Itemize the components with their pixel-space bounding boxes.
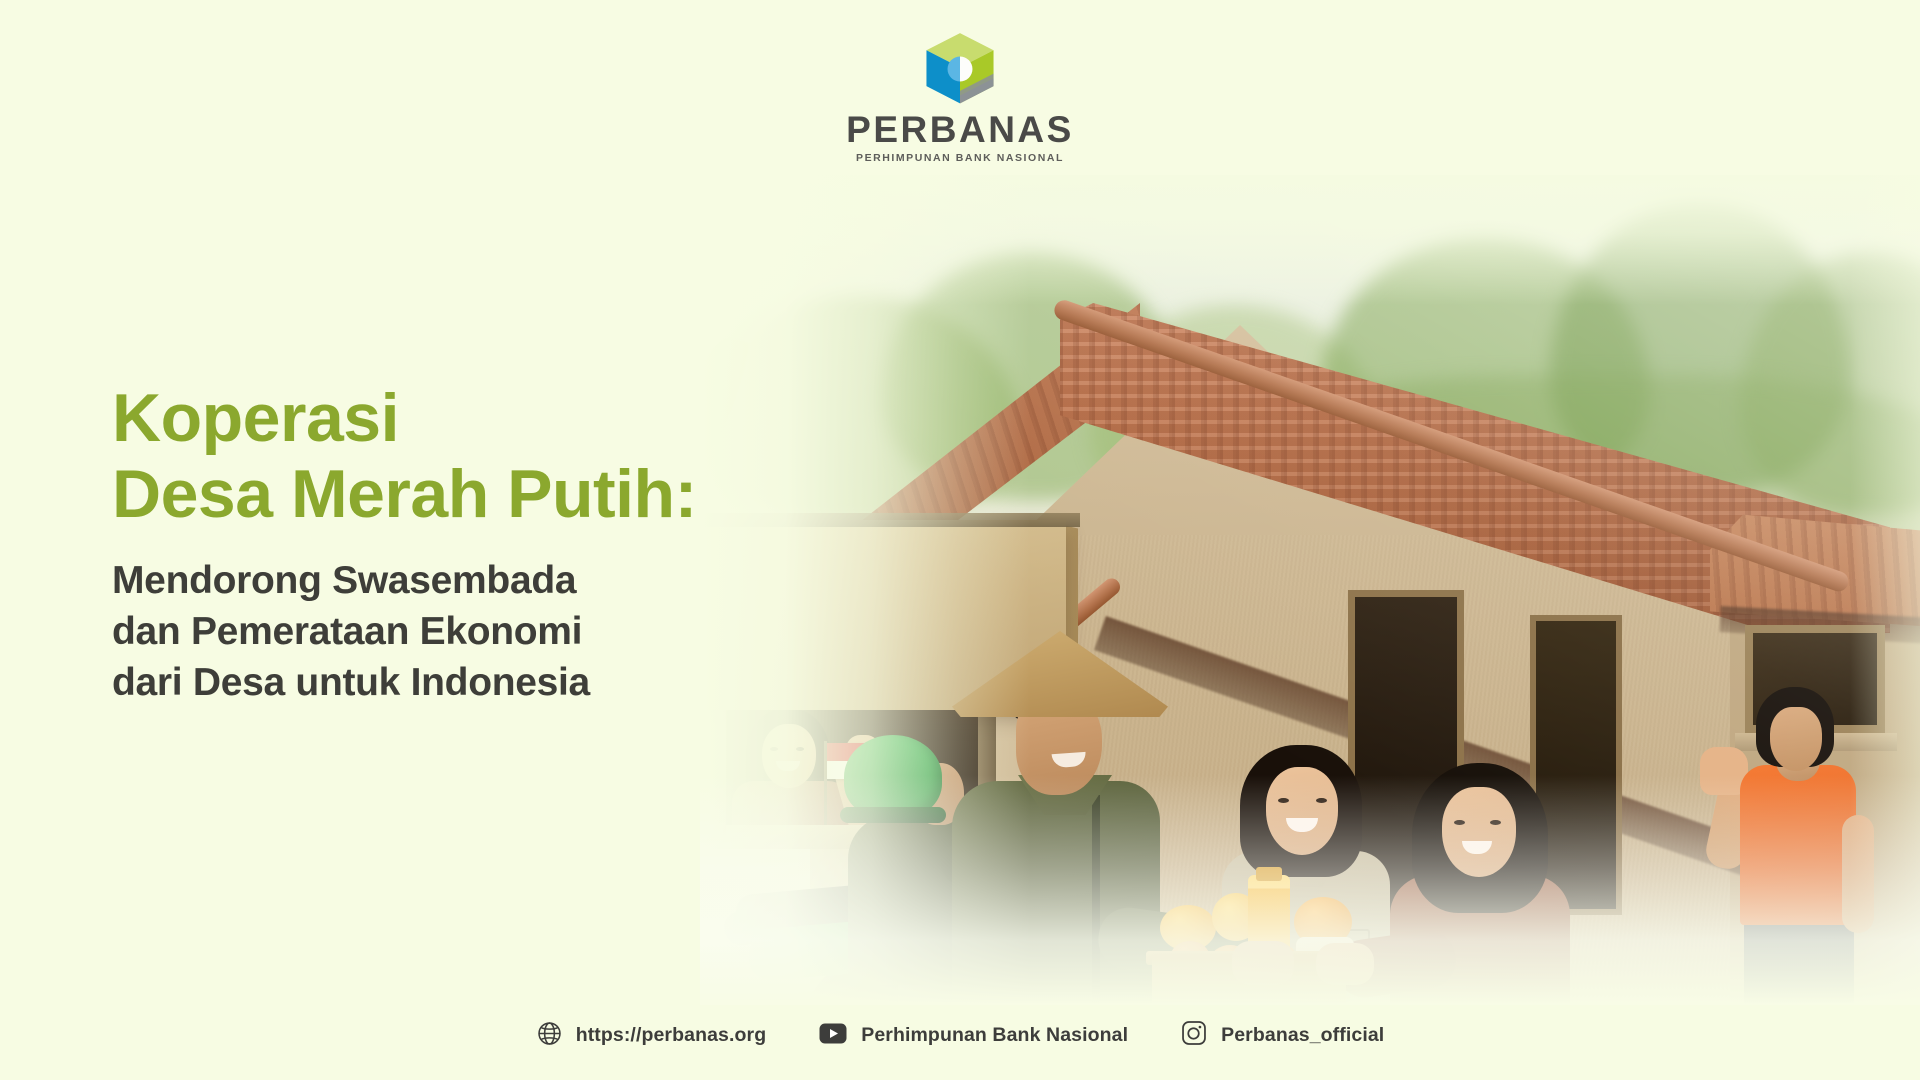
headline-group: Koperasi Desa Merah Putih: Mendorong Swa… [112,380,732,708]
globe-icon [536,1020,563,1052]
footer-item-youtube[interactable]: Perhimpunan Bank Nasional [818,1020,1128,1052]
footer-item-website[interactable]: https://perbanas.org [536,1020,767,1052]
perbanas-logo: PERBANAS PERHIMPUNAN BANK NASIONAL [0,30,1920,164]
village-illustration [700,175,1920,1005]
perbanas-cube-logo-icon [921,30,999,108]
footer-website-label: https://perbanas.org [576,1024,767,1047]
footer-item-instagram[interactable]: Perbanas_official [1180,1019,1384,1052]
page-subtitle: Mendorong Swasembada dan Pemerataan Ekon… [112,556,732,708]
footer-instagram-label: Perbanas_official [1221,1024,1384,1047]
poster-canvas: PERBANAS PERHIMPUNAN BANK NASIONAL Koper… [0,0,1920,1080]
page-title: Koperasi Desa Merah Putih: [112,380,732,532]
perbanas-tagline: PERHIMPUNAN BANK NASIONAL [856,152,1064,164]
perbanas-wordmark: PERBANAS [846,111,1074,148]
illustration-scene [700,175,1920,1005]
footer-youtube-label: Perhimpunan Bank Nasional [861,1024,1128,1047]
youtube-icon [818,1020,848,1052]
instagram-icon [1180,1019,1208,1052]
footer-contact-bar: https://perbanas.org Perhimpunan Bank Na… [0,1019,1920,1052]
photo-fade-bottom [700,775,1920,1005]
